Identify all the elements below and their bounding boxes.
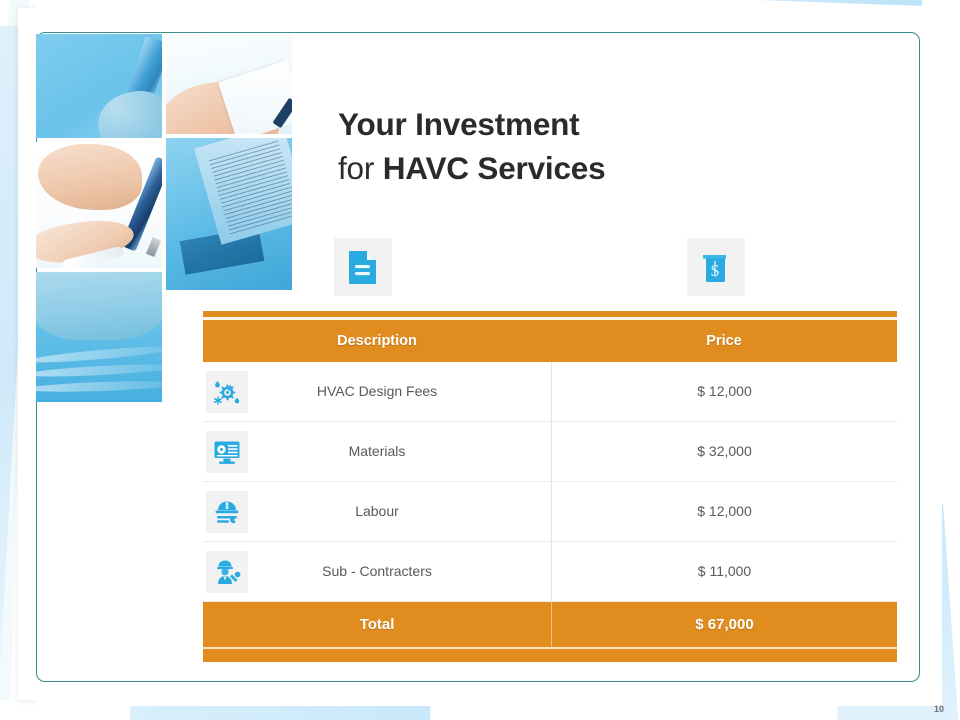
background-top-right-wedge xyxy=(592,0,924,24)
table-total-row: Total $ 67,000 xyxy=(203,602,897,647)
background-top-right-wedge-overlay xyxy=(592,0,923,6)
table-cell-price: $ 12,000 xyxy=(551,362,897,421)
document-icon[interactable] xyxy=(334,238,392,296)
document-icon-glyph xyxy=(348,250,378,284)
background-left-blue-wedge xyxy=(0,26,36,666)
price-table: Description Price xyxy=(203,311,897,662)
page-number: 10 xyxy=(934,704,944,714)
title-line-1: Your Investment xyxy=(338,102,858,146)
table-cell-price: $ 11,000 xyxy=(551,542,897,601)
worker-icon-glyph xyxy=(212,557,242,587)
fingers-on-fabric-photo xyxy=(36,272,162,402)
computer-design-icon xyxy=(206,431,248,473)
hand-holding-pen-photo xyxy=(36,142,162,268)
hardhat-wrench-icon xyxy=(206,491,248,533)
hvac-climate-icon-glyph xyxy=(212,377,242,407)
title-line-2-bold: HAVC Services xyxy=(383,150,606,186)
pen-on-blue-photo xyxy=(36,34,162,138)
hvac-climate-icon xyxy=(206,371,248,413)
background-left-pale-band xyxy=(0,0,29,700)
computer-design-icon-glyph xyxy=(212,437,242,467)
table-cell-price: $ 32,000 xyxy=(551,422,897,481)
table-cell-description: Sub - Contracters xyxy=(203,542,551,601)
table-footer-bar xyxy=(203,649,897,662)
background-bottom-left-band xyxy=(129,689,430,720)
table-total-value: $ 67,000 xyxy=(551,602,897,647)
table-row[interactable]: Sub - Contracters $ 11,000 xyxy=(203,542,897,602)
table-cell-price: $ 12,000 xyxy=(551,482,897,541)
table-total-label: Total xyxy=(203,602,551,647)
invoice-dollar-icon-glyph: $ xyxy=(700,250,732,284)
table-cell-description: Materials xyxy=(203,422,551,481)
table-header-price: Price xyxy=(551,333,897,349)
table-header-description: Description xyxy=(203,333,551,349)
title-line-2: for HAVC Services xyxy=(338,146,858,190)
table-cell-description: Labour xyxy=(203,482,551,541)
table-row[interactable]: HVAC Design Fees $ 12,000 xyxy=(203,362,897,422)
table-header-row: Description Price xyxy=(203,320,897,362)
table-row[interactable]: Labour $ 12,000 xyxy=(203,482,897,542)
worker-icon xyxy=(206,551,248,593)
slide-root: Your Investment for HAVC Services $ Desc… xyxy=(0,0,960,720)
hardhat-wrench-icon-glyph xyxy=(212,497,242,527)
table-cell-description: HVAC Design Fees xyxy=(203,362,551,421)
table-row[interactable]: Materials $ 32,000 xyxy=(203,422,897,482)
invoice-dollar-icon[interactable]: $ xyxy=(687,238,745,296)
document-over-blue-photo xyxy=(166,138,292,290)
title-line-2-light: for xyxy=(338,150,383,186)
hand-with-paper-photo xyxy=(166,34,292,134)
page-title: Your Investment for HAVC Services xyxy=(338,102,858,190)
